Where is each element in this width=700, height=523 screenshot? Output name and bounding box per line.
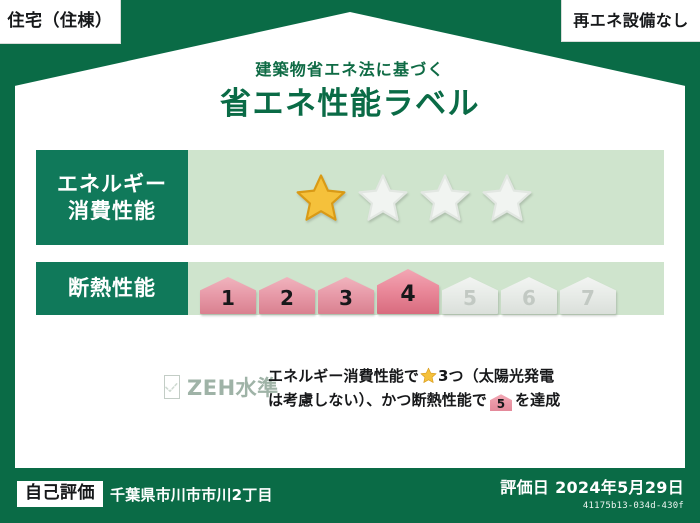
building-type-tag: 住宅（住棟） [0,0,121,44]
zeh-standard-block: ZEH水準 エネルギー消費性能で3つ（太陽光発電 は考慮しない）、かつ断熱性能で… [36,360,664,413]
label-heading: 建築物省エネ法に基づく 省エネ性能ラベル [0,60,700,124]
building-type-tag-label: 住宅（住棟） [8,13,113,30]
energy-consumption-value [188,150,664,245]
insulation-performance-value: 1234567 [188,262,664,315]
insulation-grade-6: 6 [501,277,557,314]
heading-title: 省エネ性能ラベル [0,85,700,124]
insulation-performance-label: 断熱性能 [36,262,188,315]
footer-right: 評価日 2024年5月29日 41175b13-034d-430f [500,478,684,511]
insulation-grade-3: 3 [318,277,374,314]
insulation-grade-7: 7 [560,277,616,314]
zeh-description-part3: を達成 [515,391,560,409]
energy-consumption-label-line1: エネルギー [57,171,167,198]
renewable-energy-tag: 再エネ設備なし [561,0,700,42]
insulation-grade-number: 7 [581,288,595,314]
self-evaluation-badge: 自己評価 [17,481,103,507]
evaluation-date: 評価日 2024年5月29日 [500,478,684,498]
energy-consumption-row: エネルギー 消費性能 [36,150,664,245]
document-id: 41175b13-034d-430f [500,501,684,511]
inline-grade-badge: 5 [490,394,512,411]
zeh-description-stars: 3つ（太陽光発電 [438,367,554,385]
insulation-grade-4: 4 [377,269,439,314]
insulation-grade-number: 6 [522,288,536,314]
zeh-description: エネルギー消費性能で3つ（太陽光発電 は考慮しない）、かつ断熱性能で5を達成 [268,360,664,413]
star-icon-empty [480,172,534,224]
insulation-grade-2: 2 [259,277,315,314]
zeh-mark: ZEH水準 [36,360,268,402]
insulation-grade-number: 4 [400,284,415,314]
star-icon-empty [356,172,410,224]
insulation-grade-number: 3 [339,288,353,314]
energy-performance-label: 住宅（住棟） 再エネ設備なし 建築物省エネ法に基づく 省エネ性能ラベル エネルギ… [0,0,700,523]
zeh-mark-label: ZEH水準 [187,372,279,402]
insulation-performance-label-text: 断熱性能 [68,275,156,302]
footer-left: 自己評価 千葉県市川市市川2丁目 [17,481,273,507]
insulation-grade-1: 1 [200,277,256,314]
star-icon-filled [294,172,348,224]
energy-consumption-label-line2: 消費性能 [68,198,156,225]
heading-subtitle: 建築物省エネ法に基づく [0,60,700,79]
inline-star-icon [420,367,437,384]
inline-grade-badge-number: 5 [490,394,512,414]
renewable-energy-tag-label: 再エネ設備なし [573,13,689,29]
zeh-checkbox-icon [164,375,180,399]
insulation-grade-number: 2 [280,288,294,314]
zeh-description-part2: は考慮しない）、かつ断熱性能で [268,391,487,409]
energy-consumption-label: エネルギー 消費性能 [36,150,188,245]
insulation-performance-row: 断熱性能 1234567 [36,262,664,315]
property-address: 千葉県市川市市川2丁目 [110,484,273,505]
star-icon-empty [418,172,472,224]
zeh-description-part1: エネルギー消費性能で [268,367,419,385]
insulation-grade-5: 5 [442,277,498,314]
insulation-grade-scale: 1234567 [200,261,616,316]
star-rating [294,172,534,224]
insulation-grade-number: 5 [463,288,477,314]
insulation-grade-number: 1 [221,288,235,314]
